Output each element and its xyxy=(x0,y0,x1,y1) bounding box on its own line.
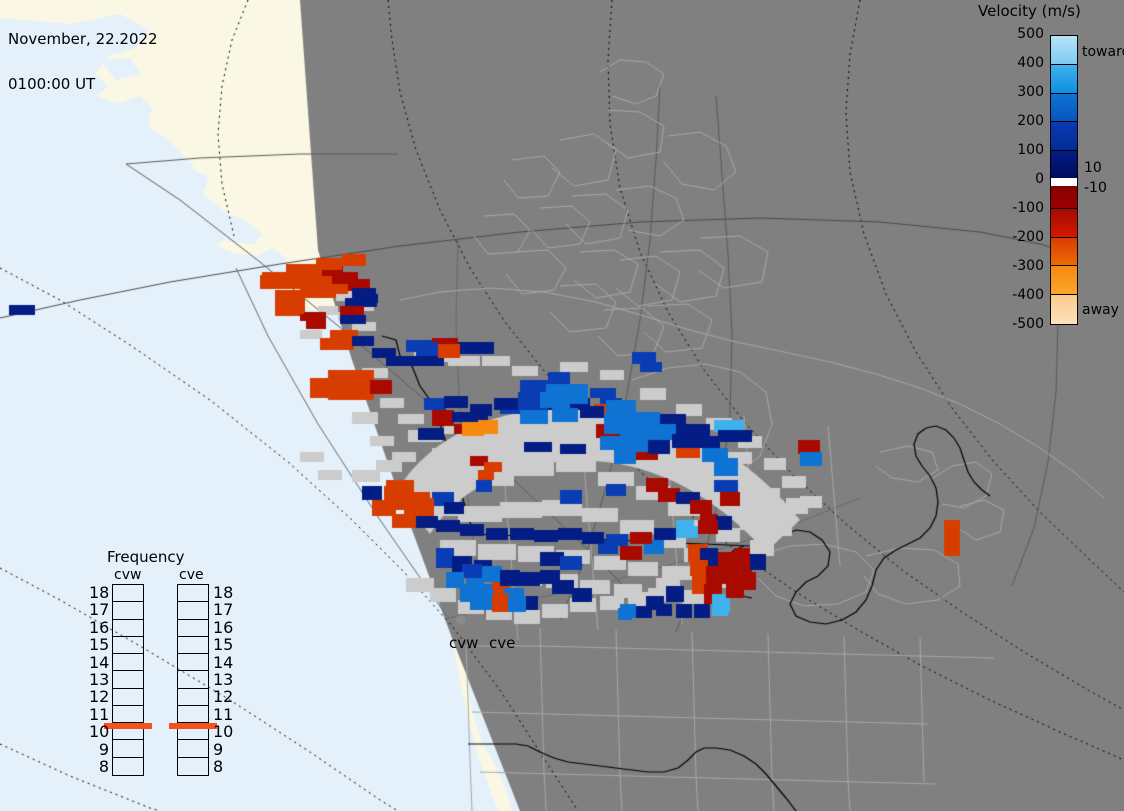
frequency-cell xyxy=(178,758,208,775)
frequency-tick-cvw-9: 9 xyxy=(89,743,109,756)
frequency-tick-cvw-14: 14 xyxy=(89,656,109,669)
colorbar-segment-8 xyxy=(1051,266,1077,295)
colorbar-segment-3 xyxy=(1051,122,1077,151)
frequency-tick-cve-13: 13 xyxy=(213,673,233,686)
frequency-tick-cvw-8: 8 xyxy=(89,760,109,773)
title-date: November, 22.2022 xyxy=(8,32,158,47)
frequency-cell xyxy=(178,706,208,723)
colorbar-segment-2 xyxy=(1051,94,1077,123)
frequency-tick-cve-15: 15 xyxy=(213,638,233,651)
frequency-bar-cve xyxy=(177,584,209,776)
frequency-tick-cvw-18: 18 xyxy=(89,586,109,599)
frequency-tick-cve-16: 16 xyxy=(213,621,233,634)
frequency-tick-cvw-17: 17 xyxy=(89,603,109,616)
frequency-cell xyxy=(178,671,208,688)
frequency-tick-cve-9: 9 xyxy=(213,743,233,756)
frequency-tick-cve-17: 17 xyxy=(213,603,233,616)
frequency-cell xyxy=(178,654,208,671)
map-site-label-cve: cve xyxy=(489,634,515,652)
frequency-panel: Frequency cvw18171615141312111098cve1817… xyxy=(85,548,245,786)
frequency-tick-cvw-10: 10 xyxy=(89,725,109,738)
colorbar-segment-0 xyxy=(1051,36,1077,65)
frequency-tick-cve-10: 10 xyxy=(213,725,233,738)
frequency-cell xyxy=(113,758,143,775)
frequency-panel-title: Frequency xyxy=(107,548,185,566)
frequency-cell xyxy=(178,602,208,619)
frequency-column-name-cve: cve xyxy=(179,567,204,583)
frequency-cell xyxy=(113,585,143,602)
frequency-cell xyxy=(178,585,208,602)
velocity-legend-title: Velocity (m/s) xyxy=(978,2,1081,20)
frequency-tick-cvw-13: 13 xyxy=(89,673,109,686)
frequency-cell xyxy=(113,654,143,671)
frequency-tick-cvw-11: 11 xyxy=(89,708,109,721)
frequency-tick-cvw-16: 16 xyxy=(89,621,109,634)
colorbar-segment-7 xyxy=(1051,238,1077,267)
frequency-tick-cve-18: 18 xyxy=(213,586,233,599)
colorbar-segment-4 xyxy=(1051,151,1077,180)
title-time: 0100:00 UT xyxy=(8,77,158,92)
frequency-marker-cvw xyxy=(104,723,152,729)
frequency-cell xyxy=(178,637,208,654)
map-site-label-cvw: cvw xyxy=(449,634,478,652)
frequency-tick-cve-14: 14 xyxy=(213,656,233,669)
frequency-bar-cvw xyxy=(112,584,144,776)
frequency-tick-cve-12: 12 xyxy=(213,690,233,703)
frequency-cell xyxy=(178,689,208,706)
frequency-cell xyxy=(113,602,143,619)
frequency-cell xyxy=(113,637,143,654)
frequency-tick-cve-8: 8 xyxy=(213,760,233,773)
frequency-column-name-cvw: cvw xyxy=(114,567,141,583)
frequency-cell xyxy=(178,740,208,757)
colorbar-segment-1 xyxy=(1051,65,1077,94)
frequency-tick-cvw-15: 15 xyxy=(89,638,109,651)
frequency-cell xyxy=(113,689,143,706)
frequency-marker-cve xyxy=(169,723,217,729)
frequency-tick-cve-11: 11 xyxy=(213,708,233,721)
colorbar-segment-6 xyxy=(1051,209,1077,238)
colorbar-zero-band xyxy=(1050,178,1078,186)
frequency-cell xyxy=(113,671,143,688)
timestamp-title: November, 22.2022 0100:00 UT xyxy=(8,2,158,122)
colorbar-segment-9 xyxy=(1051,295,1077,324)
frequency-tick-cvw-12: 12 xyxy=(89,690,109,703)
frequency-cell xyxy=(178,620,208,637)
frequency-cell xyxy=(113,620,143,637)
radar-map-screenshot: November, 22.2022 0100:00 UT Velocity (m… xyxy=(0,0,1124,811)
frequency-cell xyxy=(113,740,143,757)
frequency-cell xyxy=(113,706,143,723)
